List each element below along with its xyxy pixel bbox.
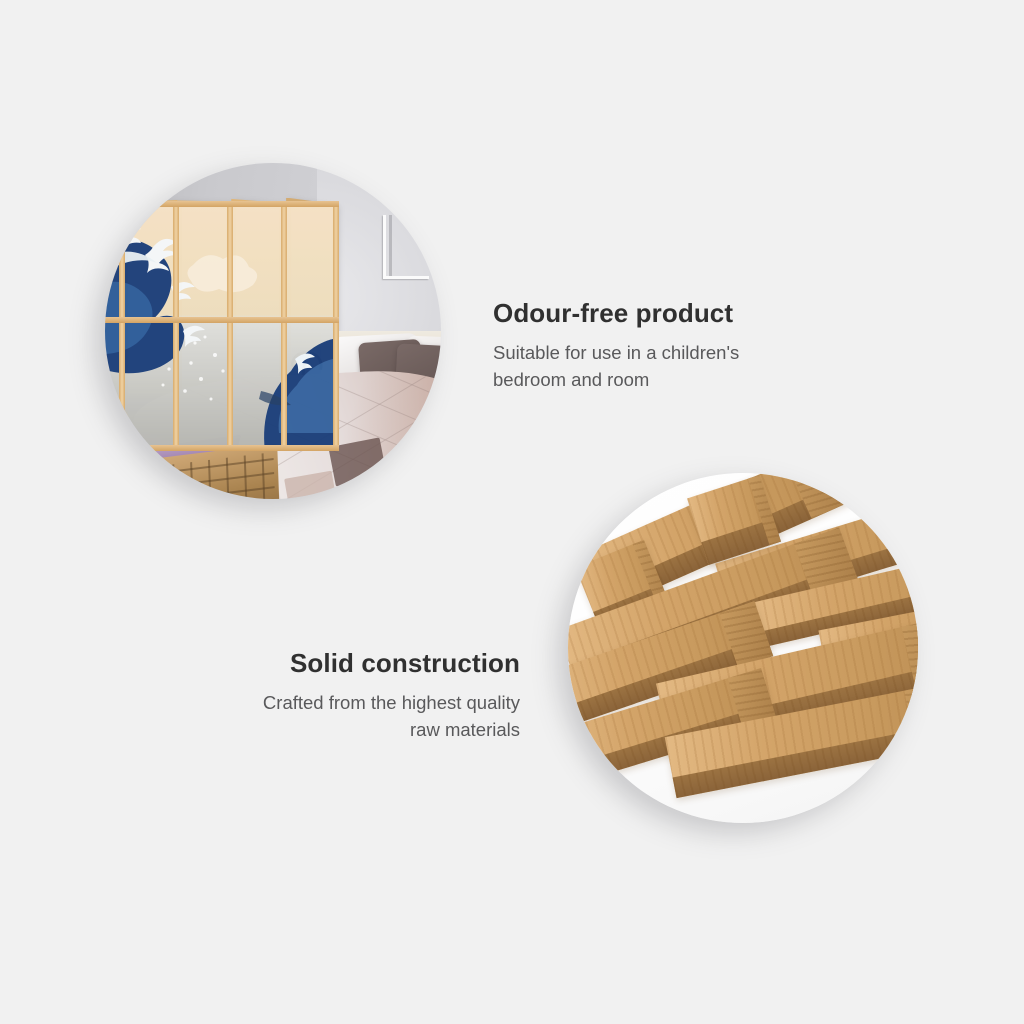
promo-canvas: Odour-free product Suitable for use in a… [0,0,1024,1024]
basket-weave-pattern [162,452,276,499]
divider-mullions [105,201,339,451]
feature-solid-construction-text: Solid construction Crafted from the high… [150,648,520,743]
feature-solid-construction-title: Solid construction [150,648,520,679]
picture-frame-icon [383,215,429,279]
stacked-timber-photo [568,473,918,823]
bedroom-room-divider-photo [105,163,441,499]
feature-odour-free-text: Odour-free product Suitable for use in a… [493,298,853,393]
timber-scene [568,473,918,823]
feature-odour-free-description: Suitable for use in a children's bedroom… [493,339,853,394]
feature-solid-construction-description: Crafted from the highest quality raw mat… [150,689,520,744]
feature-odour-free-title: Odour-free product [493,298,853,329]
bedroom-scene [105,163,441,499]
